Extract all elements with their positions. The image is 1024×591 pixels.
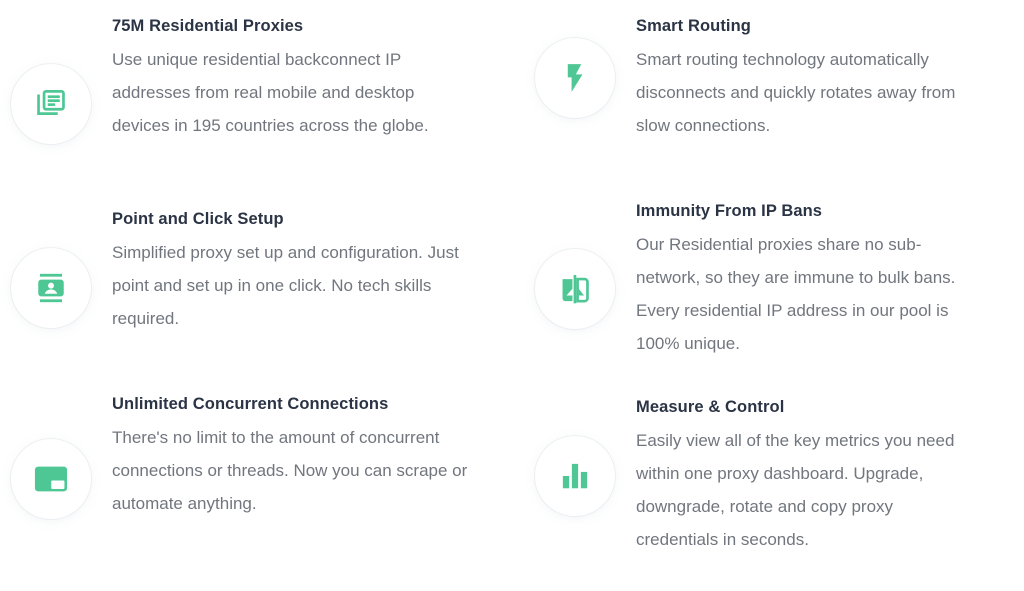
feature-card-measure-and-control: Measure & Control Easily view all of the…	[524, 384, 1024, 564]
feature-description: There's no limit to the amount of concur…	[112, 421, 474, 520]
feature-icon-badge	[535, 436, 615, 516]
contact-card-icon	[35, 271, 67, 305]
split-panel-icon	[559, 272, 591, 306]
feature-icon-badge	[535, 38, 615, 118]
feature-text-block: Immunity From IP Bans Our Residential pr…	[636, 199, 1024, 360]
feature-text-block: Smart Routing Smart routing technology a…	[636, 14, 1024, 142]
feature-icon-badge	[11, 64, 91, 144]
feature-icon-badge	[535, 249, 615, 329]
feature-title: Immunity From IP Bans	[636, 199, 966, 223]
feature-description: Easily view all of the key metrics you n…	[636, 424, 966, 556]
copy-documents-icon	[34, 87, 68, 121]
features-grid: 75M Residential Proxies Use unique resid…	[0, 0, 1024, 564]
feature-card-residential-proxies: 75M Residential Proxies Use unique resid…	[0, 0, 500, 199]
feature-icon-badge	[11, 248, 91, 328]
lightning-bolt-icon	[558, 61, 592, 95]
picture-in-picture-icon	[33, 464, 69, 494]
feature-card-smart-routing: Smart Routing Smart routing technology a…	[524, 0, 1024, 194]
feature-title: Measure & Control	[636, 395, 966, 419]
feature-text-block: Unlimited Concurrent Connections There's…	[112, 392, 500, 520]
feature-card-point-and-click-setup: Point and Click Setup Simplified proxy s…	[0, 199, 500, 379]
feature-description: Our Residential proxies share no sub-net…	[636, 228, 966, 360]
feature-description: Smart routing technology automatically d…	[636, 43, 966, 142]
feature-text-block: Measure & Control Easily view all of the…	[636, 395, 1024, 556]
feature-icon-badge	[11, 439, 91, 519]
feature-title: 75M Residential Proxies	[112, 14, 474, 38]
feature-title: Smart Routing	[636, 14, 966, 38]
feature-description: Simplified proxy set up and configuratio…	[112, 236, 474, 335]
feature-title: Point and Click Setup	[112, 207, 474, 231]
feature-card-unlimited-concurrent-connections: Unlimited Concurrent Connections There's…	[0, 384, 500, 564]
feature-title: Unlimited Concurrent Connections	[112, 392, 474, 416]
feature-card-immunity-from-ip-bans: Immunity From IP Bans Our Residential pr…	[524, 199, 1024, 384]
feature-text-block: 75M Residential Proxies Use unique resid…	[112, 14, 500, 142]
feature-description: Use unique residential backconnect IP ad…	[112, 43, 474, 142]
feature-text-block: Point and Click Setup Simplified proxy s…	[112, 207, 500, 335]
bar-chart-icon	[560, 461, 590, 491]
